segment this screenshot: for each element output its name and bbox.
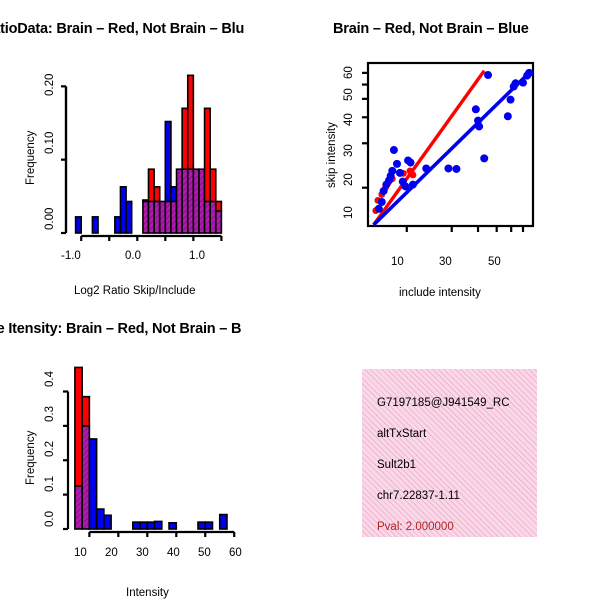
panel-intensity-histogram: ne Itensity: Brain – Red, Not Brain – B … [0, 300, 300, 600]
scatter-y-tick-1: 20 [343, 173, 355, 186]
annotation-text-block: G7197185@J941549_RC altTxStart Sult2b1 c… [377, 397, 537, 533]
intensity-y-tick-3: 0.3 [44, 406, 56, 422]
scatter-xlabel: include intensity [399, 287, 481, 299]
ratio-xlabel: Log2 Ratio Skip/Include [74, 285, 195, 297]
intensity-xlabel: Intensity [126, 587, 169, 599]
ratio-x-tick-2: 1.0 [189, 250, 205, 262]
scatter-y-tick-0: 10 [343, 206, 355, 219]
ratio-y-tick-2: 0.20 [44, 74, 56, 96]
intensity-x-tick-0: 10 [74, 547, 87, 559]
scatter-x-tick-2: 50 [488, 256, 501, 268]
intensity-x-tick-1: 20 [105, 547, 118, 559]
ratio-ylabel: Frequency [25, 131, 37, 185]
ratio-y-tick-0: 0.00 [44, 208, 56, 230]
scatter-y-tick-2: 30 [343, 144, 355, 157]
annotation-pval: Pval: 2.000000 [377, 521, 537, 533]
scatter-ylabel: skip intensity [326, 122, 338, 188]
annotation-event-type: altTxStart [377, 428, 537, 440]
annotation-probe-id: G7197185@J941549_RC [377, 397, 537, 409]
intensity-y-tick-0: 0.0 [44, 511, 56, 527]
scatter-y-tick-3: 40 [343, 113, 355, 126]
scatter-x-tick-1: 30 [439, 256, 452, 268]
ratio-x-tick-1: 0.0 [125, 250, 141, 262]
intensity-y-tick-2: 0.2 [44, 441, 56, 457]
annotation-gene: Sult2b1 [377, 459, 537, 471]
scatter-x-tick-0: 10 [391, 256, 404, 268]
intensity-x-tick-4: 50 [198, 547, 211, 559]
ratio-x-tick-0: -1.0 [61, 250, 81, 262]
scatter-y-tick-4: 50 [343, 88, 355, 101]
intensity-y-tick-1: 0.1 [44, 476, 56, 492]
intensity-y-tick-4: 0.4 [44, 371, 56, 387]
scatter-y-tick-5: 60 [343, 66, 355, 79]
annotation-panel: G7197185@J941549_RC altTxStart Sult2b1 c… [362, 369, 537, 537]
panel-intensity-scatter: Brain – Red, Not Brain – Blue 10 30 50 1… [300, 0, 600, 300]
ratio-y-tick-1: 0.10 [44, 132, 56, 154]
intensity-ylabel: Frequency [25, 431, 37, 485]
panel-ratio-histogram: RatioData: Brain – Red, Not Brain – Blu … [0, 0, 300, 300]
annotation-locus: chr7.22837-1.11 [377, 490, 537, 502]
intensity-x-tick-3: 40 [167, 547, 180, 559]
intensity-x-tick-5: 60 [229, 547, 242, 559]
intensity-x-tick-2: 30 [136, 547, 149, 559]
